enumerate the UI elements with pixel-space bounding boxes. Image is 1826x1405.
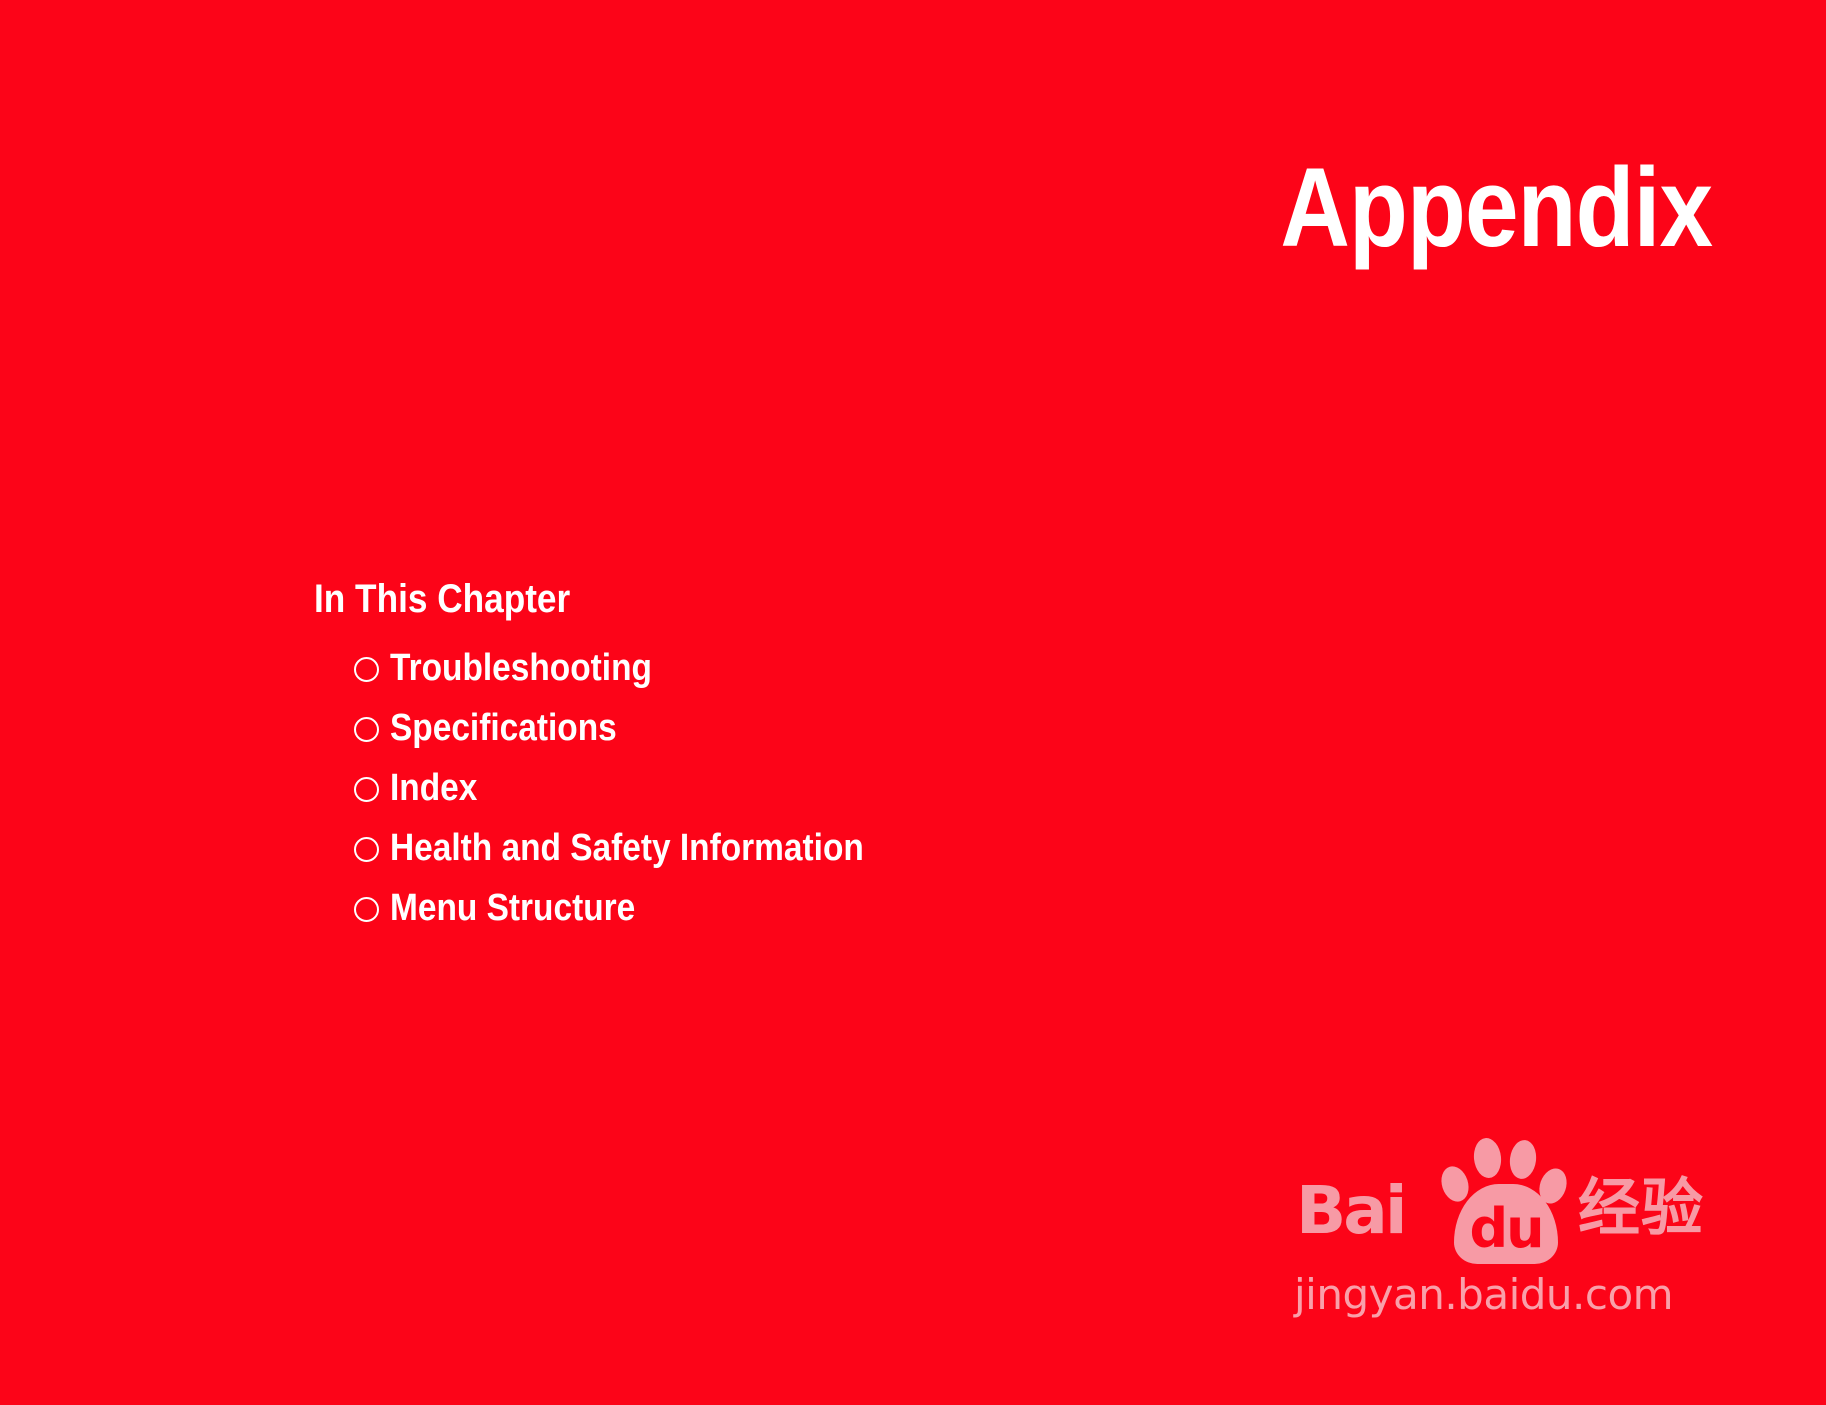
list-item[interactable]: Health and Safety Information [354,818,928,878]
circle-bullet-icon [354,777,379,802]
list-item[interactable]: Menu Structure [354,878,928,938]
circle-bullet-icon [354,897,379,922]
list-item-label: Troubleshooting [390,648,652,688]
watermark-url: jingyan.baidu.com [1294,1272,1673,1318]
in-this-chapter-block: In This Chapter Troubleshooting Specific… [314,576,928,938]
paw-du-text: du [1458,1202,1554,1256]
list-item-label: Specifications [390,708,617,748]
paw-toe-icon [1472,1137,1503,1180]
circle-bullet-icon [354,657,379,682]
chapter-heading: In This Chapter [314,576,855,622]
list-item[interactable]: Troubleshooting [354,638,928,698]
circle-bullet-icon [354,717,379,742]
circle-bullet-icon [354,837,379,862]
paw-print-icon: du [1436,1128,1574,1264]
page-title: Appendix [1280,152,1712,264]
list-item[interactable]: Specifications [354,698,928,758]
baidu-logo: Bai du 经验 [1288,1128,1718,1268]
list-item-label: Menu Structure [390,888,635,928]
list-item-label: Index [390,768,477,808]
paw-toe-icon [1508,1139,1539,1181]
jingyan-chinese-label: 经验 [1578,1176,1704,1240]
baidu-wordmark: Bai [1296,1178,1404,1244]
list-item-label: Health and Safety Information [390,828,864,868]
list-item[interactable]: Index [354,758,928,818]
appendix-slide: Appendix In This Chapter Troubleshooting… [0,0,1826,1405]
chapter-topic-list: Troubleshooting Specifications Index Hea… [314,638,928,938]
baidu-watermark: Bai du 经验 jingyan.baidu.com [1288,1128,1718,1328]
